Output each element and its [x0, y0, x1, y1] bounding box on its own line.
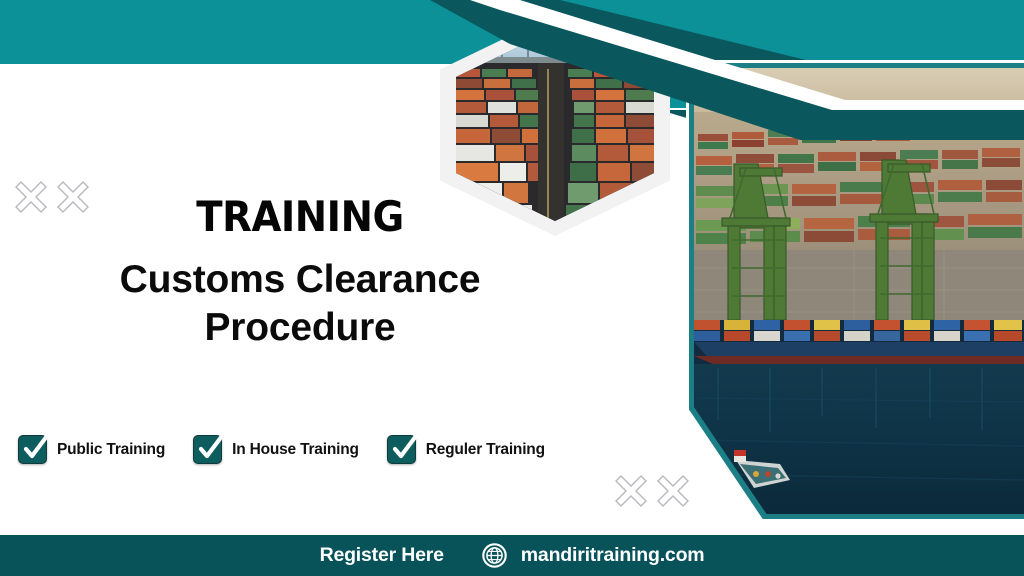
right-photo-image-clip — [694, 68, 1024, 514]
checkmark-icon — [196, 433, 224, 463]
training-type-inhouse[interactable]: In House Training — [193, 435, 359, 464]
checkmark-icon — [21, 433, 49, 463]
right-port-photo — [686, 60, 1024, 522]
footer-content: Register Here mandiritraining.com — [320, 543, 705, 568]
headline-block: TRAINING Customs Clearance Procedure — [0, 196, 600, 351]
register-here-label[interactable]: Register Here — [320, 544, 444, 567]
training-type-reguler[interactable]: Reguler Training — [387, 435, 545, 464]
training-types-row: Public Training In House Training Regule… — [18, 435, 545, 464]
training-type-label: Public Training — [57, 441, 165, 459]
kicker-training: TRAINING — [24, 196, 576, 238]
training-type-public[interactable]: Public Training — [18, 435, 165, 464]
checkbox-checked-icon[interactable] — [18, 435, 47, 464]
x-cross-outline-icon — [612, 472, 650, 514]
training-type-label: Reguler Training — [426, 441, 545, 459]
globe-icon — [482, 543, 507, 568]
checkbox-checked-icon[interactable] — [193, 435, 222, 464]
port-terminal-cranes-ship-photo — [694, 68, 1024, 514]
poster-canvas: TRAINING Customs Clearance Procedure Pub… — [0, 0, 1024, 576]
training-type-label: In House Training — [232, 441, 359, 459]
title-line-1: Customs Clearance — [120, 258, 481, 301]
checkbox-checked-icon[interactable] — [387, 435, 416, 464]
footer-bar: Register Here mandiritraining.com — [0, 535, 1024, 576]
page-title: Customs Clearance Procedure — [0, 256, 600, 351]
x-marks-bottom-center — [612, 472, 692, 514]
checkmark-icon — [390, 433, 418, 463]
title-line-2: Procedure — [204, 306, 395, 349]
website-url[interactable]: mandiritraining.com — [521, 544, 705, 567]
